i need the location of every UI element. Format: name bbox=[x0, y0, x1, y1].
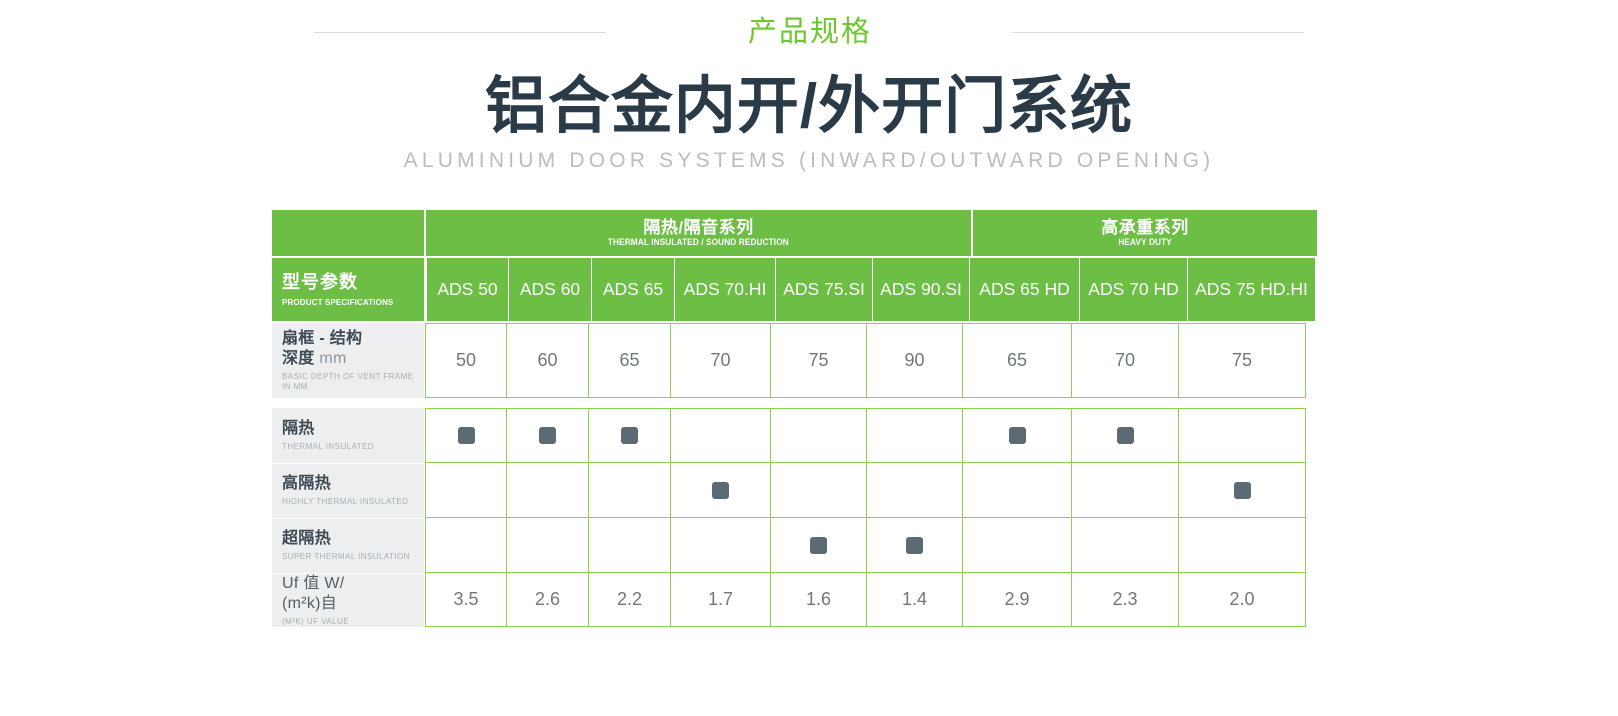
check-marker-icon bbox=[1234, 482, 1251, 499]
cell-super-ads-70-hd bbox=[1071, 518, 1179, 573]
cell-depth-ads-90-si: 90 bbox=[866, 323, 963, 398]
cell-depth-ads-75-hd-hi: 75 bbox=[1178, 323, 1306, 398]
cell-uf-ads-65: 2.2 bbox=[588, 573, 671, 627]
cell-uf-ads-70-hi: 1.7 bbox=[670, 573, 771, 627]
column-header-ads-70-hd[interactable]: ADS 70 HD bbox=[1079, 258, 1187, 321]
cell-highly-ads-75-si bbox=[770, 463, 867, 518]
row-label-thermal-insulated-cn: 隔热 bbox=[282, 419, 418, 439]
table-row-highly-thermal-insulated: 高隔热 HIGHLY THERMAL INSULATED bbox=[272, 463, 1315, 518]
table-group-header-row: 隔热/隔音系列 THERMAL INSULATED / SOUND REDUCT… bbox=[272, 210, 1315, 256]
cell-depth-ads-75-si: 75 bbox=[770, 323, 867, 398]
row-label-uf-value-cn: Uf 值 W/ (m²k)自 bbox=[282, 574, 418, 614]
group-header-blank bbox=[272, 210, 424, 256]
check-marker-icon bbox=[906, 537, 923, 554]
row-label-thermal-insulated: 隔热 THERMAL INSULATED bbox=[272, 408, 424, 463]
group-header-thermal: 隔热/隔音系列 THERMAL INSULATED / SOUND REDUCT… bbox=[426, 210, 971, 256]
section-kicker: 产品规格 bbox=[748, 18, 872, 47]
spec-label-en: PRODUCT SPECIFICATIONS bbox=[282, 297, 417, 307]
row-label-thermal-insulated-en: THERMAL INSULATED bbox=[282, 442, 418, 452]
row-label-depth-cn: 扇框 - 结构 深度 mm bbox=[282, 329, 418, 369]
cell-uf-ads-60: 2.6 bbox=[506, 573, 589, 627]
column-header-ads-65[interactable]: ADS 65 bbox=[591, 258, 674, 321]
cell-highly-ads-70-hd bbox=[1071, 463, 1179, 518]
column-header-ads-75-hd-hi[interactable]: ADS 75 HD.HI bbox=[1187, 258, 1315, 321]
group-header-thermal-cn: 隔热/隔音系列 bbox=[643, 218, 753, 238]
cell-depth-ads-65-hd: 65 bbox=[962, 323, 1072, 398]
cell-thermal-ads-50 bbox=[425, 408, 507, 463]
row-label-super-thermal-insulation-cn: 超隔热 bbox=[282, 529, 418, 549]
cell-highly-ads-70-hi bbox=[670, 463, 771, 518]
divider-line-left bbox=[314, 32, 606, 33]
product-spec-page: 产品规格 铝合金内开/外开门系统 ALUMINIUM DOOR SYSTEMS … bbox=[0, 0, 1618, 716]
check-marker-icon bbox=[621, 427, 638, 444]
table-row-depth: 扇框 - 结构 深度 mm BASIC DEPTH OF VENT FRAME … bbox=[272, 323, 1315, 398]
row-label-highly-thermal-insulated-cn: 高隔热 bbox=[282, 474, 418, 494]
cell-uf-ads-70-hd: 2.3 bbox=[1071, 573, 1179, 627]
column-header-ads-90-si[interactable]: ADS 90.SI bbox=[872, 258, 969, 321]
table-row-uf-value: Uf 值 W/ (m²k)自 (m²k) UF VALUE 3.5 2.6 2.… bbox=[272, 573, 1315, 627]
cell-thermal-ads-75-hd-hi bbox=[1178, 408, 1306, 463]
group-header-heavyduty: 高承重系列 HEAVY DUTY bbox=[973, 210, 1317, 256]
cell-highly-ads-75-hd-hi bbox=[1178, 463, 1306, 518]
cell-super-ads-65-hd bbox=[962, 518, 1072, 573]
cell-super-ads-60 bbox=[506, 518, 589, 573]
cell-thermal-ads-60 bbox=[506, 408, 589, 463]
cell-highly-ads-65-hd bbox=[962, 463, 1072, 518]
cell-uf-ads-90-si: 1.4 bbox=[866, 573, 963, 627]
cell-thermal-ads-90-si bbox=[866, 408, 963, 463]
column-header-ads-60[interactable]: ADS 60 bbox=[508, 258, 591, 321]
column-header-ads-70-hi[interactable]: ADS 70.HI bbox=[674, 258, 775, 321]
column-header-ads-65-hd[interactable]: ADS 65 HD bbox=[969, 258, 1079, 321]
column-header-ads-75-si[interactable]: ADS 75.SI bbox=[775, 258, 872, 321]
check-marker-icon bbox=[1009, 427, 1026, 444]
cell-super-ads-50 bbox=[425, 518, 507, 573]
row-label-uf-value: Uf 值 W/ (m²k)自 (m²k) UF VALUE bbox=[272, 573, 424, 627]
row-label-depth-en: BASIC DEPTH OF VENT FRAME IN MM bbox=[282, 372, 418, 392]
row-label-depth: 扇框 - 结构 深度 mm BASIC DEPTH OF VENT FRAME … bbox=[272, 323, 424, 398]
cell-thermal-ads-70-hd bbox=[1071, 408, 1179, 463]
row-label-depth-cn-line1: 扇框 - 结构 bbox=[282, 330, 362, 347]
cell-depth-ads-60: 60 bbox=[506, 323, 589, 398]
cell-thermal-ads-65 bbox=[588, 408, 671, 463]
page-subtitle: ALUMINIUM DOOR SYSTEMS (INWARD/OUTWARD O… bbox=[0, 149, 1618, 173]
cell-super-ads-90-si bbox=[866, 518, 963, 573]
group-header-heavyduty-en: HEAVY DUTY bbox=[1118, 237, 1172, 248]
column-header-ads-50[interactable]: ADS 50 bbox=[426, 258, 508, 321]
row-label-uf-value-en: (m²k) UF VALUE bbox=[282, 617, 418, 627]
check-marker-icon bbox=[810, 537, 827, 554]
section-kicker-row: 产品规格 bbox=[0, 18, 1618, 47]
row-label-uf-value-cn-line2: (m²k)自 bbox=[282, 595, 337, 612]
row-label-uf-value-cn-line1: Uf 值 W/ bbox=[282, 575, 345, 592]
row-label-depth-cn-line2: 深度 bbox=[282, 350, 315, 367]
cell-depth-ads-65: 65 bbox=[588, 323, 671, 398]
cell-depth-ads-50: 50 bbox=[425, 323, 507, 398]
cell-super-ads-75-hd-hi bbox=[1178, 518, 1306, 573]
cell-thermal-ads-70-hi bbox=[670, 408, 771, 463]
spec-label-cell: 型号参数 PRODUCT SPECIFICATIONS bbox=[272, 258, 424, 321]
cell-super-ads-65 bbox=[588, 518, 671, 573]
row-label-highly-thermal-insulated-en: HIGHLY THERMAL INSULATED bbox=[282, 497, 418, 507]
cell-depth-ads-70-hd: 70 bbox=[1071, 323, 1179, 398]
table-model-header-row: 型号参数 PRODUCT SPECIFICATIONS ADS 50 ADS 6… bbox=[272, 258, 1315, 321]
table-row-super-thermal-insulation: 超隔热 SUPER THERMAL INSULATION bbox=[272, 518, 1315, 573]
check-marker-icon bbox=[1117, 427, 1134, 444]
row-label-depth-unit: mm bbox=[319, 350, 346, 367]
cell-highly-ads-50 bbox=[425, 463, 507, 518]
row-label-super-thermal-insulation: 超隔热 SUPER THERMAL INSULATION bbox=[272, 518, 424, 573]
table-row-thermal-insulated: 隔热 THERMAL INSULATED bbox=[272, 408, 1315, 463]
row-label-super-thermal-insulation-en: SUPER THERMAL INSULATION bbox=[282, 552, 418, 562]
cell-highly-ads-65 bbox=[588, 463, 671, 518]
cell-highly-ads-90-si bbox=[866, 463, 963, 518]
cell-uf-ads-65-hd: 2.9 bbox=[962, 573, 1072, 627]
cell-thermal-ads-65-hd bbox=[962, 408, 1072, 463]
spec-label-cn: 型号参数 bbox=[282, 272, 424, 294]
cell-uf-ads-75-hd-hi: 2.0 bbox=[1178, 573, 1306, 627]
page-title: 铝合金内开/外开门系统 bbox=[0, 71, 1618, 142]
check-marker-icon bbox=[458, 427, 475, 444]
specification-table: 隔热/隔音系列 THERMAL INSULATED / SOUND REDUCT… bbox=[272, 210, 1315, 627]
divider-line-right bbox=[1012, 32, 1304, 33]
check-marker-icon bbox=[539, 427, 556, 444]
cell-highly-ads-60 bbox=[506, 463, 589, 518]
cell-super-ads-75-si bbox=[770, 518, 867, 573]
cell-uf-ads-50: 3.5 bbox=[425, 573, 507, 627]
group-header-heavyduty-cn: 高承重系列 bbox=[1101, 218, 1189, 238]
cell-super-ads-70-hi bbox=[670, 518, 771, 573]
cell-depth-ads-70-hi: 70 bbox=[670, 323, 771, 398]
group-header-thermal-en: THERMAL INSULATED / SOUND REDUCTION bbox=[608, 237, 789, 248]
check-marker-icon bbox=[712, 482, 729, 499]
cell-thermal-ads-75-si bbox=[770, 408, 867, 463]
row-label-highly-thermal-insulated: 高隔热 HIGHLY THERMAL INSULATED bbox=[272, 463, 424, 518]
cell-uf-ads-75-si: 1.6 bbox=[770, 573, 867, 627]
